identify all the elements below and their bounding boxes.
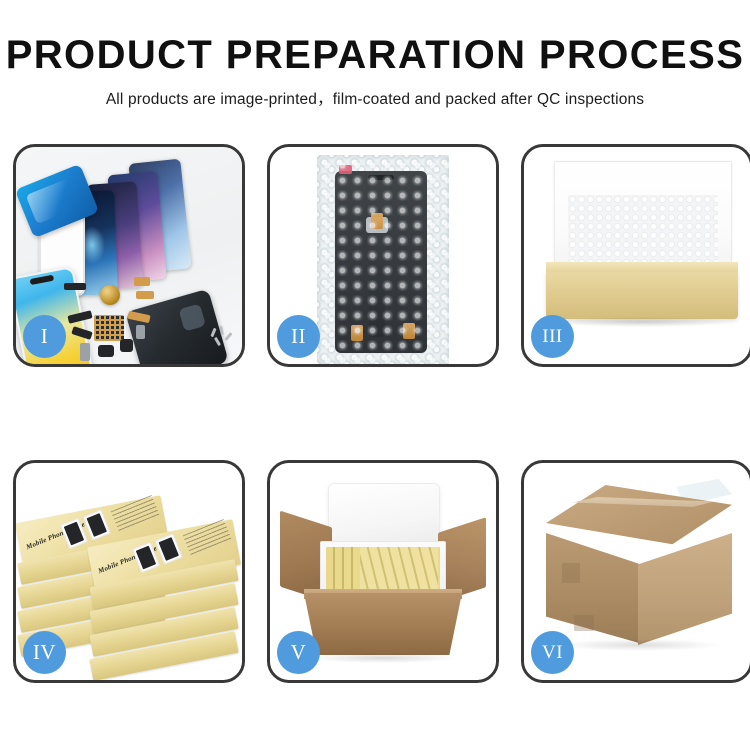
box-screen-print-4 [155,533,183,565]
connector-board-part [94,315,124,341]
red-tape-marker [339,165,352,174]
flex-cable-part-2 [136,291,154,299]
step-badge-6: VI [531,631,574,674]
page-title: PRODUCT PREPARATION PROCESS [0,34,750,76]
wrapped-flex-cable [369,227,385,337]
earpiece-part [64,283,86,290]
page-subtitle: All products are image-printed，film-coat… [0,87,750,109]
step-panel-1[interactable]: I [13,144,245,367]
carton-shadow [310,653,456,663]
gold-contact-tab-1 [371,213,383,229]
step-badge-3: III [531,315,574,358]
gold-contact-tab-3 [403,323,415,339]
yellow-boxes-row-2 [360,547,438,595]
product-preparation-infographic: PRODUCT PREPARATION PROCESS All products… [0,0,750,750]
speaker-part [98,345,114,357]
battery-connector-part [80,343,90,361]
carton-patch-2 [574,615,594,631]
bubble-wrap-bag [317,155,449,364]
button-part [136,325,145,339]
header: PRODUCT PREPARATION PROCESS All products… [0,0,750,109]
copper-coil-part [100,285,120,305]
carton-patch-1 [562,563,580,583]
box-shadow [550,317,734,327]
steps-grid: I II [13,144,737,683]
step-panel-2[interactable]: II [267,144,499,367]
carton-right-face [638,533,732,645]
box-spec-text-1 [111,495,160,532]
step-panel-6[interactable]: VI [521,460,750,683]
step-badge-1: I [23,315,66,358]
step-panel-3[interactable]: III [521,144,750,367]
gold-contact-tab-2 [351,325,363,341]
box-screen-print-2 [83,509,111,541]
carton-front-wall [304,593,462,655]
step-panel-4[interactable]: Mobile Phone Spare Parts Mobile Phone Sp… [13,460,245,683]
step-badge-5: V [277,631,320,674]
step-badge-2: II [277,315,320,358]
kraft-box-tray [546,271,738,319]
step-panel-5[interactable]: V [267,460,499,683]
step-badge-4: IV [23,631,66,674]
camera-module-part [120,339,133,352]
box-spec-text-2 [183,519,232,556]
screws-group [210,326,236,348]
flex-cable-part-1 [134,277,150,286]
carton-shadow [558,639,720,651]
